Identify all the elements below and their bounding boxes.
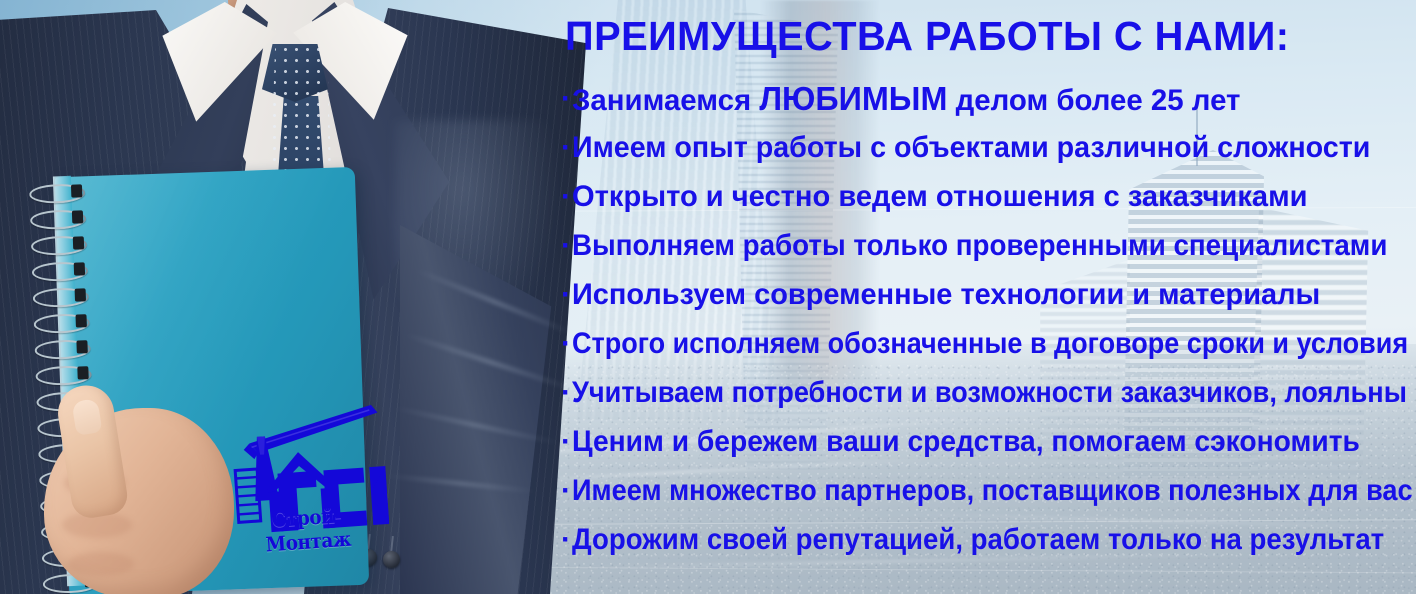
list-item-label: Ценим и бережем ваши средства, помогаем …	[572, 417, 1360, 466]
list-item: ·Имеем опыт работы с объектами различной…	[561, 123, 1413, 172]
bullet-marker: ·	[561, 466, 571, 515]
company-logo: Строй-Монтаж	[210, 388, 390, 545]
bullet-marker: ·	[561, 368, 571, 417]
knuckle-shadow	[68, 552, 134, 576]
list-item: ·Открыто и честно ведем отношения с зака…	[561, 172, 1413, 221]
list-item-label: Выполняем работы только проверенными спе…	[572, 221, 1387, 270]
list-item: ·Дорожим своей репутацией, работаем толь…	[561, 515, 1413, 564]
bullet-marker: ·	[561, 221, 571, 270]
list-item-label: Имеем опыт работы с объектами различной …	[572, 123, 1370, 172]
bullet-marker: ·	[561, 319, 571, 368]
advantages-banner: Строй-Монтаж ПРЕИМУЩ	[0, 0, 1416, 594]
list-item-label: Строго исполняем обозначенные в договоре…	[572, 319, 1408, 368]
list-item: ·Ценим и бережем ваши средства, помогаем…	[561, 417, 1413, 466]
list-item-label: Дорожим своей репутацией, работаем тольк…	[572, 515, 1384, 564]
bullet-marker: ·	[561, 515, 571, 564]
page-title: ПРЕИМУЩЕСТВА РАБОТЫ С НАМИ:	[565, 14, 1380, 58]
list-item-label: Учитываем потребности и возможности зака…	[572, 368, 1407, 417]
sleeve-button-icon	[383, 551, 400, 568]
bullet-marker: ·	[561, 123, 571, 172]
list-item-emphasis: ЛЮБИМЫМ	[759, 80, 947, 117]
list-item: ·Учитываем потребности и возможности зак…	[561, 368, 1413, 417]
advantages-list: ·Занимаемся ЛЮБИМЫМ делом более 25 лет ·…	[561, 74, 1413, 564]
bullet-marker: ·	[561, 172, 571, 221]
list-item-label: Открыто и честно ведем отношения с заказ…	[572, 172, 1307, 221]
list-item: ·Строго исполняем обозначенные в договор…	[561, 319, 1413, 368]
list-item-label: Используем современные технологии и мате…	[572, 270, 1320, 319]
list-item-label: Занимаемся ЛЮБИМЫМ делом более 25 лет	[572, 74, 1240, 125]
list-item: ·Выполняем работы только проверенными сп…	[561, 221, 1413, 270]
list-item: ·Используем современные технологии и мат…	[561, 270, 1413, 319]
list-item: ·Имеем множество партнеров, поставщиков …	[561, 466, 1413, 515]
bullet-marker: ·	[561, 74, 571, 123]
businessman-photo: Строй-Монтаж	[0, 0, 560, 594]
list-item: ·Занимаемся ЛЮБИМЫМ делом более 25 лет	[561, 74, 1413, 123]
bullet-marker: ·	[561, 270, 571, 319]
list-item-label: Имеем множество партнеров, поставщиков п…	[572, 466, 1413, 515]
bullet-marker: ·	[561, 417, 571, 466]
